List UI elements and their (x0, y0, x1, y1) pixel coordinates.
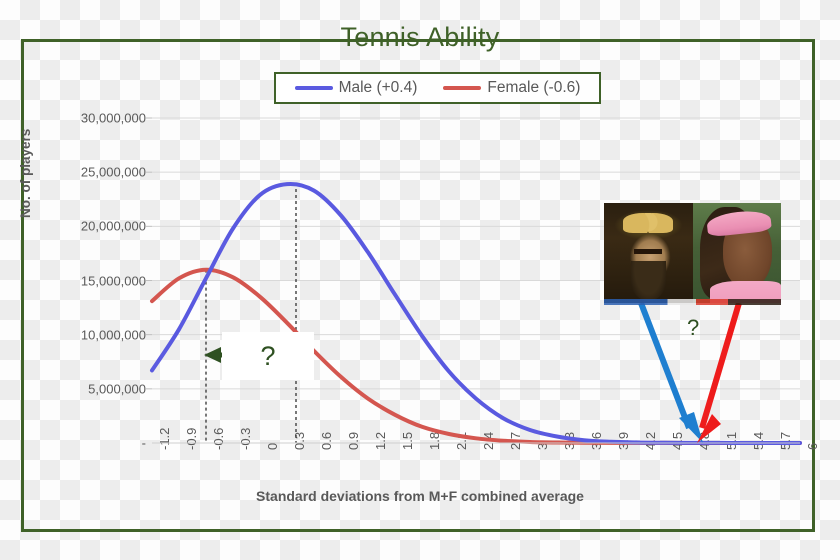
x-axis-tick: -0.9 (184, 428, 199, 450)
x-axis-tick: 3.6 (589, 432, 604, 450)
x-axis-tick: 3.9 (616, 432, 631, 450)
x-axis-tick: 2.7 (508, 432, 523, 450)
x-axis-tick: 4.8 (697, 432, 712, 450)
x-axis-tick: 1.2 (373, 432, 388, 450)
x-axis-tick: 0.9 (346, 432, 361, 450)
x-axis-tick: 4.2 (643, 432, 658, 450)
x-axis-tick: 1.8 (427, 432, 442, 450)
x-axis-tick: 6 (805, 443, 820, 450)
x-axis-tick: -1.2 (157, 428, 172, 450)
x-axis-title: Standard deviations from M+F combined av… (0, 488, 840, 504)
x-axis-tick: 5.4 (751, 432, 766, 450)
x-axis-tick: -0.3 (238, 428, 253, 450)
x-axis-tick: 1.5 (400, 432, 415, 450)
x-axis-tick: 4.5 (670, 432, 685, 450)
chart-screenshot: Tennis Ability Male (+0.4) Female (-0.6)… (0, 0, 840, 560)
beard-shape (631, 261, 666, 301)
x-axis-tick: 3.3 (562, 432, 577, 450)
spread-question-label: ? (260, 343, 275, 370)
crown-shape (623, 213, 673, 233)
spread-question-annotation: ? (222, 332, 314, 380)
tennis-player-photo (693, 203, 782, 303)
x-axis-tick: 2.1 (454, 432, 469, 450)
x-axis-tick: 0.3 (292, 432, 307, 450)
x-axis-tick: 5.1 (724, 432, 739, 450)
x-axis-tick: 5.7 (778, 432, 793, 450)
x-axis-tick: 2.4 (481, 432, 496, 450)
photo-bottom-strip (604, 299, 781, 305)
historical-portrait-photo (604, 203, 693, 303)
x-axis-tick: 3 (535, 443, 550, 450)
x-axis-tick: 0.6 (319, 432, 334, 450)
portrait-photo-pair (604, 203, 781, 303)
outlier-question-label: ? (687, 315, 699, 341)
x-axis-tick: 0 (265, 443, 280, 450)
x-axis-tick: -0.6 (211, 428, 226, 450)
eyes-shape (634, 249, 662, 254)
